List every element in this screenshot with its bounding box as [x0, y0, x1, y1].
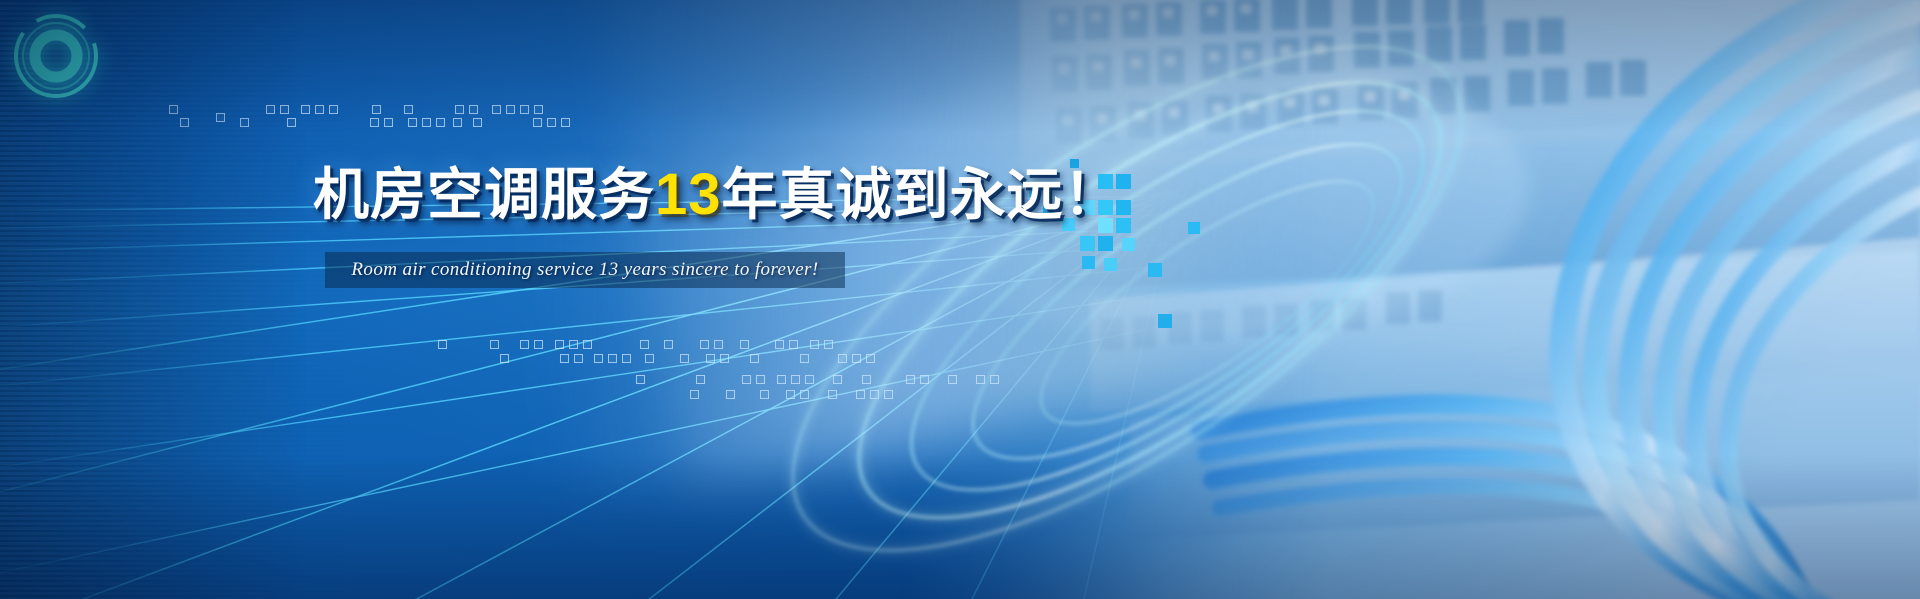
page-title: 机房空调服务13年真诚到永远！: [313, 166, 1120, 224]
cyan-pixel-mosaic: [0, 0, 1920, 599]
subtitle: Room air conditioning service 13 years s…: [325, 252, 845, 288]
promo-banner: 机房空调服务13年真诚到永远！ Room air conditioning se…: [0, 0, 1920, 599]
subtitle-text: Room air conditioning service 13 years s…: [351, 259, 818, 281]
headline-highlight-number: 13: [655, 162, 722, 227]
headline-punctuation: ！: [1064, 163, 1120, 226]
headline-part-1: 机房空调服务: [313, 163, 655, 226]
headline-part-2: 年真诚到永远: [722, 163, 1064, 226]
